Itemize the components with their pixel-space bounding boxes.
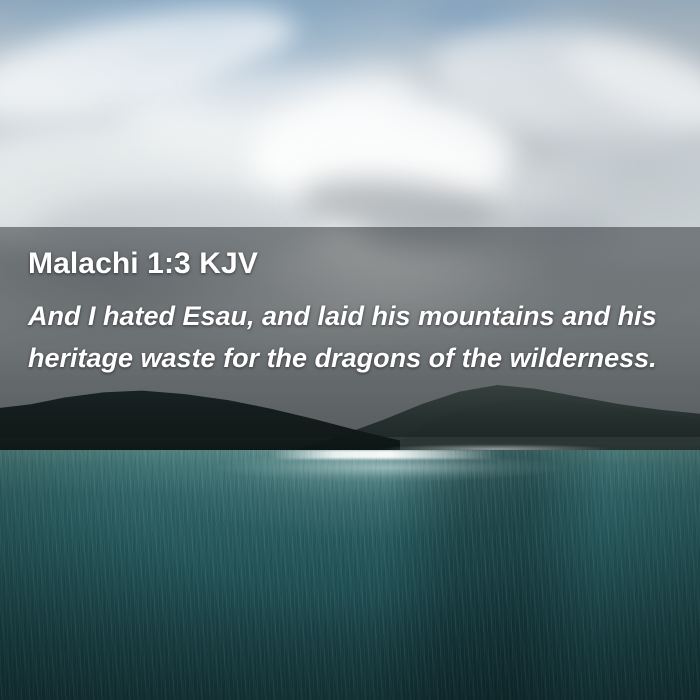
water-vignette [0, 450, 700, 700]
verse-block: Malachi 1:3 KJV And I hated Esau, and la… [0, 227, 700, 437]
verse-text: And I hated Esau, and laid his mountains… [28, 295, 676, 379]
verse-reference: Malachi 1:3 KJV [28, 247, 258, 281]
cloud-wisp [117, 55, 423, 156]
cloud-wisp [0, 0, 306, 142]
cloud-wisp [424, 10, 700, 161]
cloud-wisp [556, 25, 700, 156]
cloud-sunlit [250, 95, 510, 215]
verse-image-canvas: Malachi 1:3 KJV And I hated Esau, and la… [0, 0, 700, 700]
water-surface [0, 450, 700, 700]
cloud-wisp [197, 31, 363, 124]
